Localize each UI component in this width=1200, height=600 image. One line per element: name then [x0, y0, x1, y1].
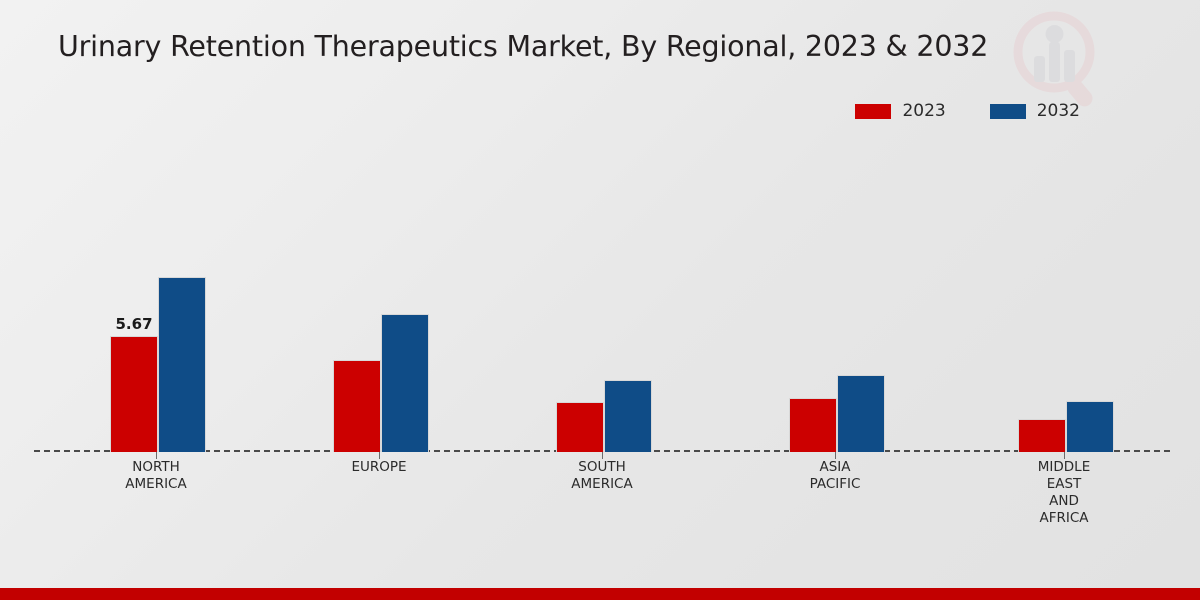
- legend-label-2032: 2032: [1037, 103, 1080, 120]
- legend-label-2023: 2023: [902, 103, 945, 120]
- x-axis-tick: [156, 452, 157, 459]
- legend-swatch-2032: [990, 104, 1026, 119]
- bar-europe-2032[interactable]: [381, 314, 429, 452]
- bar-north-america-2023[interactable]: 5.67: [110, 336, 158, 452]
- x-axis-label-line: AMERICA: [512, 476, 692, 493]
- x-axis-label-north-america: NORTH AMERICA: [66, 459, 246, 493]
- chart-canvas: Urinary Retention Therapeutics Market, B…: [0, 0, 1200, 600]
- bar-asia-pacific-2023[interactable]: [789, 398, 837, 452]
- x-axis-label-line: EUROPE: [289, 459, 469, 476]
- bar-europe-2023[interactable]: [333, 360, 381, 452]
- legend-swatch-2023: [855, 104, 891, 119]
- x-axis-label-line: PACIFIC: [745, 476, 925, 493]
- bar-south-america-2023[interactable]: [556, 402, 604, 452]
- x-axis-label-line: AND: [974, 493, 1154, 510]
- bar-middle-east-and-africa-2023[interactable]: [1018, 419, 1066, 452]
- footer-accent-bar: [0, 588, 1200, 600]
- legend-item-2023[interactable]: 2023: [855, 103, 945, 120]
- x-axis-label-line: MIDDLE: [974, 459, 1154, 476]
- x-axis-label-middle-east-and-africa: MIDDLE EAST AND AFRICA: [974, 459, 1154, 527]
- legend-item-2032[interactable]: 2032: [990, 103, 1080, 120]
- x-axis-tick: [602, 452, 603, 459]
- bar-south-america-2032[interactable]: [604, 380, 652, 452]
- x-axis-label-asia-pacific: ASIA PACIFIC: [745, 459, 925, 493]
- x-axis-label-line: ASIA: [745, 459, 925, 476]
- plot-area: 5.67 NORTH AMERICA EUROPE: [34, 150, 1170, 452]
- x-axis-label-line: NORTH: [66, 459, 246, 476]
- bar-north-america-2032[interactable]: [158, 277, 206, 452]
- x-axis-tick: [379, 452, 380, 459]
- x-axis-tick: [1064, 452, 1065, 459]
- watermark-logo-icon: [1006, 6, 1106, 114]
- chart-title: Urinary Retention Therapeutics Market, B…: [58, 30, 988, 63]
- x-axis-tick: [835, 452, 836, 459]
- x-axis-label-line: SOUTH: [512, 459, 692, 476]
- bar-middle-east-and-africa-2032[interactable]: [1066, 401, 1114, 452]
- x-axis-label-europe: EUROPE: [289, 459, 469, 476]
- x-axis-label-line: AMERICA: [66, 476, 246, 493]
- bar-asia-pacific-2032[interactable]: [837, 375, 885, 452]
- x-axis-label-line: AFRICA: [974, 510, 1154, 527]
- x-axis-label-line: EAST: [974, 476, 1154, 493]
- bar-value-north-america-2023: 5.67: [115, 315, 152, 333]
- chart-legend: 2023 2032: [855, 103, 1080, 120]
- x-axis-label-south-america: SOUTH AMERICA: [512, 459, 692, 493]
